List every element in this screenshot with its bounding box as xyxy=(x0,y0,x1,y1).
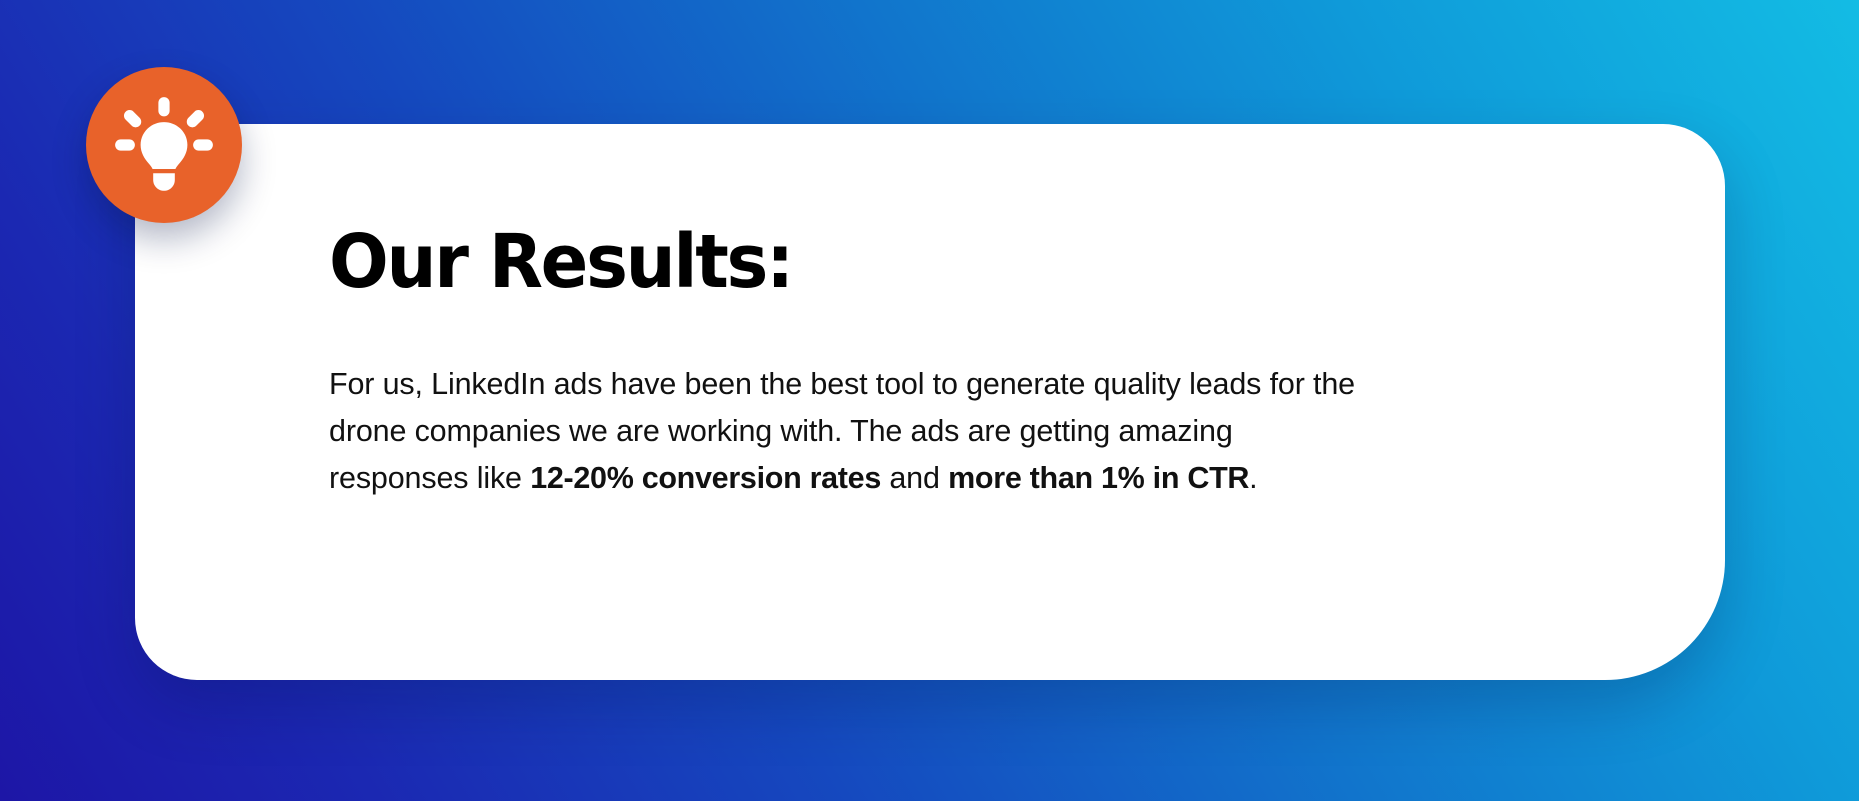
body-segment-3: . xyxy=(1249,461,1257,495)
body-segment-2: and xyxy=(881,461,948,495)
lightbulb-icon xyxy=(112,93,216,197)
emphasis-ctr: more than 1% in CTR xyxy=(948,461,1249,495)
results-body-text: For us, LinkedIn ads have been the best … xyxy=(329,361,1374,502)
card-content: Our Results: For us, LinkedIn ads have b… xyxy=(329,224,1605,502)
lightbulb-badge xyxy=(86,67,242,223)
results-card: Our Results: For us, LinkedIn ads have b… xyxy=(135,124,1725,680)
emphasis-conversion-rates: 12-20% conversion rates xyxy=(530,461,881,495)
page-title: Our Results: xyxy=(329,224,1541,301)
results-callout-canvas: Our Results: For us, LinkedIn ads have b… xyxy=(0,0,1859,801)
